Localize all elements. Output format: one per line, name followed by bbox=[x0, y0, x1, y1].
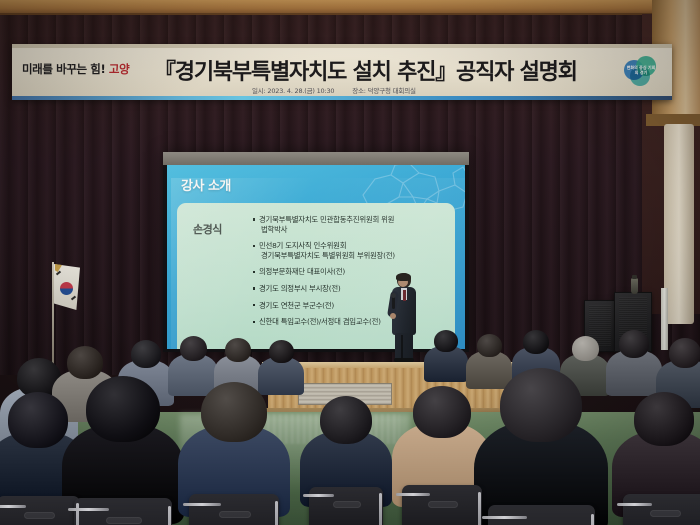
audience-head bbox=[8, 392, 68, 448]
chair-armrest bbox=[68, 508, 109, 511]
slide-title: 강사 소개 bbox=[181, 175, 231, 194]
audience-head bbox=[67, 346, 103, 379]
audience-head bbox=[320, 396, 372, 444]
chair-armrest bbox=[482, 516, 527, 519]
banner-title: 『경기북부특별자치도 설치 추진』공직자 설명회 bbox=[154, 54, 577, 86]
audience-head bbox=[434, 330, 458, 352]
audience-chair bbox=[488, 505, 595, 525]
bullet-line-1: 의정부문화재단 대표이사(전) bbox=[259, 267, 345, 276]
chair-leg bbox=[379, 493, 382, 525]
slide-speaker-name: 손경식 bbox=[193, 221, 222, 237]
banner-slogan-city: 고양 bbox=[109, 62, 129, 76]
banner-top-edge bbox=[12, 44, 672, 48]
screen-top-bar bbox=[163, 152, 469, 165]
chair-armrest bbox=[303, 494, 334, 497]
audience-head bbox=[269, 340, 294, 363]
chair-armrest bbox=[0, 505, 26, 508]
bullet-line-1: 경기도 연천군 부군수(전) bbox=[259, 301, 334, 310]
list-item: 경기북부특별자치도 민관합동추진위원회 위원 법학박사 bbox=[253, 215, 449, 234]
bullet-line-2: 경기북부특별자치도 특별위원회 부위원장(전) bbox=[259, 251, 449, 261]
audience-head bbox=[572, 336, 599, 361]
audience-head bbox=[634, 392, 694, 446]
bottle-cap bbox=[632, 275, 637, 279]
audience-head bbox=[131, 340, 161, 368]
pillar-column bbox=[664, 124, 694, 324]
audience-head bbox=[477, 334, 502, 357]
banner-slogan-prefix: 미래를 바꾸는 힘! bbox=[22, 62, 105, 76]
banner-location: 장소: 덕양구청 대회의실 bbox=[352, 87, 416, 95]
audience-member bbox=[474, 368, 608, 525]
banner-slogan: 미래를 바꾸는 힘! 고양 bbox=[22, 61, 129, 77]
audience-head bbox=[669, 338, 700, 368]
bullet-line-1: 신한대 특임교수(전)/서정대 겸임교수(전) bbox=[259, 317, 381, 326]
bullet-line-1: 경기북부특별자치도 민관합동추진위원회 위원 bbox=[259, 215, 394, 224]
audience-chair bbox=[74, 498, 172, 525]
chair-armrest bbox=[183, 503, 221, 506]
projection-screen: 강사 소개 손경식 경기북부특별자치도 민관합동추진위원회 위원 법학박사 민선… bbox=[163, 152, 469, 352]
audience-head bbox=[180, 336, 207, 361]
event-banner: 미래를 바꾸는 힘! 고양 『경기북부특별자치도 설치 추진』공직자 설명회 일… bbox=[12, 44, 672, 100]
bullet-line-1: 경기도 의정부시 부시장(전) bbox=[259, 284, 341, 293]
presentation-slide: 강사 소개 손경식 경기북부특별자치도 민관합동추진위원회 위원 법학박사 민선… bbox=[167, 165, 465, 349]
audience-chair bbox=[623, 494, 700, 525]
audience-head bbox=[225, 338, 251, 362]
water-bottle bbox=[631, 278, 638, 294]
microphone-icon bbox=[391, 293, 396, 298]
audience-head bbox=[86, 376, 160, 442]
audience-chair bbox=[309, 487, 383, 525]
chair-leg bbox=[275, 501, 278, 525]
chair-leg bbox=[76, 503, 79, 525]
audience-head bbox=[201, 382, 267, 442]
audience-head bbox=[619, 330, 649, 358]
bullet-line-2: 법학박사 bbox=[259, 225, 449, 235]
audience-chair bbox=[402, 485, 482, 525]
presenter-figure bbox=[390, 273, 420, 361]
banner-datetime: 일시: 2023. 4. 28.(금) 10:30 bbox=[252, 87, 334, 95]
logo-text: 변화의 중심 기회의 경기 bbox=[626, 65, 656, 75]
banner-bottom-stripe bbox=[12, 96, 672, 100]
audience-member bbox=[424, 330, 468, 388]
chair-leg bbox=[591, 514, 594, 525]
audience-head bbox=[500, 368, 582, 442]
audience-head bbox=[523, 330, 549, 354]
chair-armrest bbox=[396, 493, 430, 496]
chair-leg bbox=[478, 492, 481, 525]
chair-leg bbox=[168, 506, 171, 525]
list-item: 민선8기 도지사직 인수위원회 경기북부특별자치도 특별위원회 부위원장(전) bbox=[253, 241, 449, 260]
flag-taeguk-circle bbox=[60, 282, 73, 295]
banner-subtitle: 일시: 2023. 4. 28.(금) 10:30 장소: 덕양구청 대회의실 bbox=[252, 85, 432, 95]
ceiling-beam bbox=[0, 0, 700, 14]
audience-head bbox=[413, 386, 471, 438]
conference-hall-photo: 미래를 바꾸는 힘! 고양 『경기북부특별자치도 설치 추진』공직자 설명회 일… bbox=[0, 0, 700, 525]
gyeonggi-logo-icon: 변화의 중심 기회의 경기 bbox=[624, 56, 658, 86]
chair-armrest bbox=[617, 503, 652, 506]
bullet-line-1: 민선8기 도지사직 인수위원회 bbox=[259, 241, 346, 250]
audience-chair bbox=[189, 494, 279, 525]
